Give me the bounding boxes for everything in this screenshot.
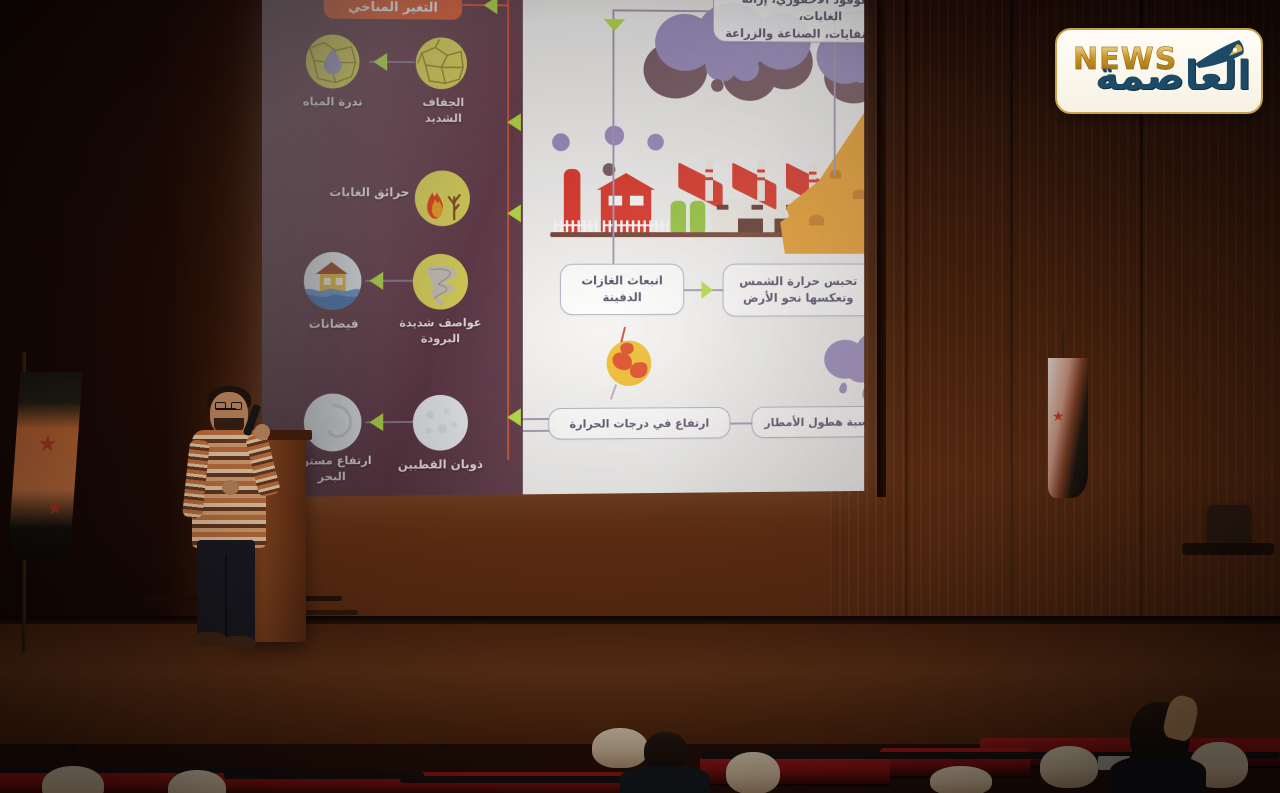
audience-shoulders [620, 766, 710, 793]
box-greenhouse-emissions: انبعاث الغازات الدفينة [560, 264, 684, 315]
wall-seam [905, 0, 908, 660]
arrow-left-icon [484, 0, 498, 14]
panel-label-forest-fire: حرائق الغابات [324, 184, 415, 200]
audience-head [1040, 746, 1098, 788]
stage-monitor-speaker [1208, 505, 1250, 547]
panel-title: التغير المناخي [324, 0, 462, 20]
screen-right-frame [877, 0, 886, 497]
projection-screen: حرق الوقود الأحفوري، إزالة الغابات، مطام… [262, 0, 864, 497]
box-heat-trapping: تحبس حرارة الشمس وتعكسها نحو الأرض [723, 264, 865, 317]
arrow-left-icon [507, 408, 521, 426]
forest-fire-icon [415, 170, 470, 226]
stage-floor [0, 624, 1280, 744]
audience-head [930, 766, 992, 793]
sea-level-rise-icon [304, 393, 362, 451]
audience-head [592, 728, 648, 768]
panel-rail [507, 0, 509, 460]
arrow-left-icon [369, 272, 383, 290]
arrow-left-icon [373, 53, 387, 71]
flag-left: ★ ★ [7, 372, 82, 562]
cold-storm-icon [413, 254, 468, 310]
panel-label-water-scarcity: ندرة المياه [288, 94, 377, 110]
arrow-right-icon [701, 281, 713, 299]
logo-arabic-text: العاصمة [1095, 56, 1251, 96]
arrow-left-icon [369, 413, 383, 431]
seat-rail [224, 772, 424, 779]
audience-head [644, 732, 688, 770]
flow-line-vertical-left [612, 9, 614, 267]
news-channel-logo: NEWS العاصمة [1055, 28, 1263, 114]
arrow-left-icon [507, 204, 521, 222]
panel-label-polar-melting: ذوبان القطبين [389, 456, 491, 473]
flag-right: ★ [1048, 358, 1088, 498]
arrow-down-icon [604, 19, 625, 31]
screenshot-root: حرق الوقود الأحفوري، إزالة الغابات، مطام… [0, 0, 1280, 793]
box-temperature-rise: ارتفاع في درجات الحرارة [548, 407, 730, 440]
box-rainfall-change: تغيرات في نسبة هطول الأمطار [751, 405, 864, 438]
audience-head [726, 752, 780, 793]
box-emission-sources: حرق الوقود الأحفوري، إزالة الغابات، مطام… [713, 0, 864, 43]
slide-side-panel: التغير المناخي [262, 0, 523, 497]
polar-melting-icon [413, 395, 468, 451]
panel-label-flood: فيضانات [292, 316, 375, 332]
water-scarcity-icon [306, 34, 360, 88]
audience-shoulders [1110, 756, 1206, 793]
monitor-shadow [1182, 543, 1274, 555]
arrow-left-icon [507, 113, 521, 131]
severe-drought-icon [416, 37, 467, 89]
wall-seam [1010, 0, 1013, 660]
flood-icon [304, 252, 362, 310]
panel-label-cold-storm: عواصف شديدة البرودة [391, 315, 489, 346]
panel-label-drought: الجفاف الشديد [399, 95, 488, 126]
